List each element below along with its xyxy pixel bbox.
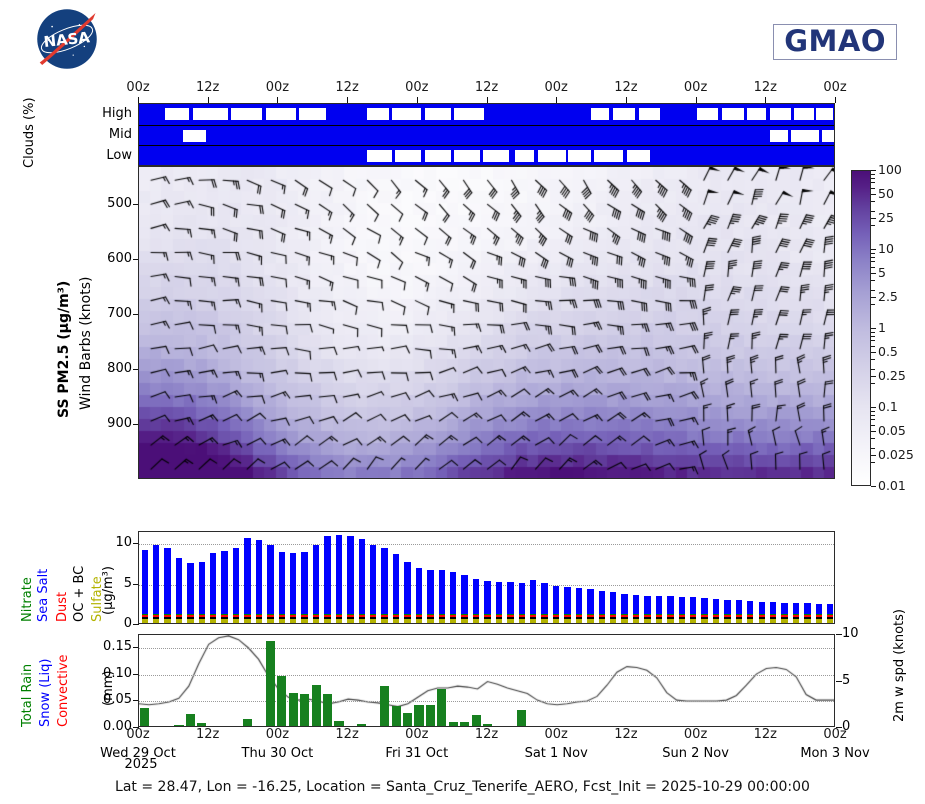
aerosol-bar xyxy=(644,596,650,623)
colorbar-minor-tick xyxy=(871,178,875,179)
aerosol-segment xyxy=(701,617,707,619)
cloud-clear-gap xyxy=(395,150,421,162)
aerosol-segment xyxy=(393,617,399,619)
aerosol-bar xyxy=(187,563,193,623)
cloud-clear-gap xyxy=(791,130,818,142)
aerosol-segment xyxy=(473,617,479,619)
aerosol-segment xyxy=(210,614,216,616)
clouds-row-mid xyxy=(139,125,834,146)
clouds-row-high xyxy=(139,104,834,125)
precip-bar xyxy=(289,693,298,726)
aerosol-segment xyxy=(690,614,696,616)
aerosol-segment xyxy=(679,617,685,619)
aerosol-segment xyxy=(724,619,730,623)
time-tick-label: 12z xyxy=(463,80,511,95)
aerosol-bar xyxy=(519,583,525,623)
aerosol-gridline xyxy=(139,544,834,545)
aerosol-segment xyxy=(221,614,227,616)
precip-bar xyxy=(517,710,526,726)
aerosol-segment xyxy=(359,614,365,616)
aerosol-bar xyxy=(816,604,822,623)
aerosol-segment xyxy=(427,619,433,623)
aerosol-bar xyxy=(713,599,719,623)
aerosol-segment xyxy=(256,617,262,619)
aerosol-bar xyxy=(221,551,227,623)
precip-legend-convective: Convective xyxy=(56,654,71,727)
aerosol-segment xyxy=(667,617,673,619)
aerosol-segment xyxy=(747,619,753,623)
aerosol-legend-nitrate: Nitrate xyxy=(20,577,35,622)
aerosol-segment-seasalt xyxy=(359,539,365,614)
precip-legend-snow-liq-: Snow (Liq) xyxy=(38,659,53,727)
cloud-clear-gap xyxy=(425,108,451,120)
aerosol-segment xyxy=(381,619,387,623)
colorbar-tick-mark xyxy=(871,455,876,456)
aerosol-bar xyxy=(199,562,205,623)
colorbar-minor-tick xyxy=(871,352,875,353)
colorbar-tick-label: 0.025 xyxy=(878,447,914,462)
aerosol-segment-seasalt xyxy=(416,568,422,614)
aerosol-segment-seasalt xyxy=(496,582,502,614)
cloud-clear-gap xyxy=(697,108,718,120)
aerosol-bar xyxy=(747,601,753,623)
cloud-row-label: Mid xyxy=(72,127,132,142)
aerosol-segment-seasalt xyxy=(530,580,536,614)
colorbar-minor-tick xyxy=(871,332,875,333)
aerosol-segment xyxy=(279,617,285,619)
aerosol-tick-label: 0 xyxy=(96,616,132,631)
cloud-clear-gap xyxy=(627,150,650,162)
aerosol-segment xyxy=(747,614,753,616)
aerosol-segment xyxy=(153,614,159,616)
aerosol-segment-seasalt xyxy=(484,581,490,614)
aerosol-segment-seasalt xyxy=(439,570,445,614)
day-label: Fri 31 Oct xyxy=(357,746,477,761)
colorbar-tick-label: 0.05 xyxy=(878,423,906,438)
aerosol-segment xyxy=(359,619,365,623)
aerosol-segment xyxy=(290,614,296,616)
aerosol-segment-seasalt xyxy=(336,535,342,614)
aerosol-segment xyxy=(553,619,559,623)
aerosol-segment-seasalt xyxy=(736,600,742,614)
aerosol-segment-seasalt xyxy=(827,604,833,615)
aerosol-segment xyxy=(416,617,422,619)
aerosol-bar xyxy=(404,562,410,623)
cloud-clear-gap xyxy=(770,108,792,120)
aerosol-segment xyxy=(816,619,822,623)
colorbar-tick-label: 25 xyxy=(878,210,894,225)
pressure-tick-label: 600 xyxy=(86,251,132,266)
precip-bar xyxy=(357,724,366,726)
aerosol-segment-seasalt xyxy=(747,601,753,614)
aerosol-segment xyxy=(667,619,673,623)
aerosol-segment xyxy=(759,619,765,623)
aerosol-segment-seasalt xyxy=(450,572,456,614)
aerosol-segment xyxy=(176,619,182,623)
aerosol-segment xyxy=(599,619,605,623)
aerosol-segment xyxy=(450,614,456,616)
aerosol-segment xyxy=(473,619,479,623)
colorbar-minor-tick xyxy=(871,304,875,305)
time-tick-label: 00z xyxy=(672,80,720,95)
aerosol-segment xyxy=(701,619,707,623)
aerosol-segment xyxy=(187,614,193,616)
aerosol-bar xyxy=(690,597,696,623)
aerosol-segment xyxy=(587,619,593,623)
colorbar-minor-tick xyxy=(871,462,875,463)
aerosol-segment xyxy=(564,614,570,616)
aerosol-segment xyxy=(439,617,445,619)
aerosol-segment xyxy=(404,614,410,616)
aerosol-segment xyxy=(541,619,547,623)
cloud-clear-gap xyxy=(425,150,451,162)
aerosol-segment xyxy=(176,614,182,616)
precip-panel xyxy=(138,634,835,727)
aerosol-bar xyxy=(793,603,799,623)
aerosol-segment xyxy=(713,619,719,623)
aerosol-bar xyxy=(164,548,170,623)
aerosol-segment xyxy=(644,617,650,619)
aerosol-segment-seasalt xyxy=(164,548,170,614)
aerosol-segment xyxy=(770,614,776,616)
aerosol-segment xyxy=(679,619,685,623)
colorbar-tick-mark xyxy=(871,486,876,487)
aerosol-segment xyxy=(256,619,262,623)
time-tick-label: 00z xyxy=(811,80,859,95)
aerosol-segment-seasalt xyxy=(759,602,765,614)
aerosol-segment xyxy=(827,614,833,616)
aerosol-segment xyxy=(244,617,250,619)
aerosol-bar xyxy=(301,552,307,623)
precip-gridline xyxy=(139,648,834,649)
aerosol-segment-seasalt xyxy=(599,591,605,614)
aerosol-segment xyxy=(439,614,445,616)
gmao-logo-text: GMAO xyxy=(784,24,886,58)
colorbar-minor-tick xyxy=(871,201,875,202)
colorbar-minor-tick xyxy=(871,340,875,341)
aerosol-segment-seasalt xyxy=(724,600,730,615)
cloud-clear-gap xyxy=(454,150,480,162)
colorbar-tick-label: 0.01 xyxy=(878,478,906,493)
aerosol-segment xyxy=(644,614,650,616)
aerosol-segment xyxy=(701,614,707,616)
aerosol-segment xyxy=(221,617,227,619)
aerosol-segment-seasalt xyxy=(816,604,822,615)
colorbar-tick-mark xyxy=(871,376,876,377)
colorbar-tick-label: 1 xyxy=(878,320,886,335)
aerosol-segment xyxy=(427,617,433,619)
colorbar-minor-tick xyxy=(871,174,875,175)
precip-tick-label: 0.15 xyxy=(78,639,132,654)
aerosol-segment xyxy=(713,614,719,616)
cloud-clear-gap xyxy=(231,108,262,120)
aerosol-segment xyxy=(553,614,559,616)
aerosol-segment xyxy=(244,614,250,616)
aerosol-segment-seasalt xyxy=(187,563,193,614)
aerosol-bar xyxy=(313,545,319,623)
aerosol-segment-seasalt xyxy=(267,545,273,614)
aerosol-segment-seasalt xyxy=(176,558,182,615)
aerosol-segment xyxy=(804,614,810,616)
aerosol-segment xyxy=(496,617,502,619)
aerosol-segment-seasalt xyxy=(142,550,148,614)
aerosol-bar xyxy=(256,540,262,623)
aerosol-bar xyxy=(279,552,285,623)
aerosol-segment xyxy=(633,617,639,619)
aerosol-segment-seasalt xyxy=(244,538,250,614)
aerosol-segment-seasalt xyxy=(313,545,319,614)
aerosol-segment xyxy=(233,619,239,623)
precip-tick-label: 0.05 xyxy=(78,692,132,707)
aerosol-bar xyxy=(553,586,559,623)
aerosol-segment xyxy=(244,619,250,623)
aerosol-segment-seasalt xyxy=(701,598,707,614)
aerosol-bar xyxy=(770,602,776,623)
pressure-tick-label: 500 xyxy=(86,196,132,211)
aerosol-segment-seasalt xyxy=(667,596,673,614)
colorbar-tick-label: 2.5 xyxy=(878,289,898,304)
nasa-logo: NASA xyxy=(36,8,98,70)
aerosol-segment xyxy=(496,619,502,623)
cloud-clear-gap xyxy=(392,108,421,120)
aerosol-segment xyxy=(644,619,650,623)
precip-bar xyxy=(403,713,412,726)
aerosol-segment-seasalt xyxy=(587,589,593,614)
aerosol-bar xyxy=(541,583,547,623)
aerosol-segment xyxy=(633,619,639,623)
colorbar-tick-mark xyxy=(871,218,876,219)
aerosol-segment-seasalt xyxy=(679,597,685,614)
aerosol-segment xyxy=(313,619,319,623)
aerosol-segment xyxy=(336,617,342,619)
aerosol-segment xyxy=(324,617,330,619)
aerosol-bar xyxy=(507,582,513,623)
aerosol-bar xyxy=(347,536,353,623)
aerosol-segment xyxy=(221,619,227,623)
aerosol-segment xyxy=(461,617,467,619)
main-ylabel-pm25: SS PM2.5 (μg/m³) xyxy=(56,281,72,418)
aerosol-segment xyxy=(656,614,662,616)
aerosol-segment-seasalt xyxy=(793,603,799,614)
aerosol-segment xyxy=(781,619,787,623)
aerosol-segment xyxy=(679,614,685,616)
aerosol-segment-seasalt xyxy=(256,540,262,614)
colorbar-minor-tick xyxy=(871,369,875,370)
precip-bar xyxy=(472,715,481,726)
aerosol-segment xyxy=(164,614,170,616)
day-label: Mon 3 Nov xyxy=(775,746,895,761)
aerosol-segment xyxy=(233,617,239,619)
aerosol-segment-seasalt xyxy=(290,553,296,614)
aerosol-segment xyxy=(690,617,696,619)
aerosol-segment xyxy=(233,614,239,616)
aerosol-segment xyxy=(633,614,639,616)
pressure-tick-label: 700 xyxy=(86,306,132,321)
aerosol-segment xyxy=(530,617,536,619)
precip-bar xyxy=(392,706,401,726)
aerosol-tick-label: 5 xyxy=(96,576,132,591)
aerosol-segment xyxy=(176,617,182,619)
aerosol-bar xyxy=(530,580,536,623)
aerosol-segment xyxy=(187,619,193,623)
aerosol-segment xyxy=(519,614,525,616)
aerosol-legend-dust: Dust xyxy=(55,592,70,622)
aerosol-segment xyxy=(324,614,330,616)
aerosol-panel xyxy=(138,531,835,624)
cloud-clear-gap xyxy=(266,108,296,120)
aerosol-bar xyxy=(667,596,673,623)
aerosol-tick-label: 10 xyxy=(96,535,132,550)
aerosol-segment xyxy=(541,617,547,619)
aerosol-segment-seasalt xyxy=(633,595,639,614)
aerosol-segment xyxy=(507,614,513,616)
aerosol-segment xyxy=(610,614,616,616)
aerosol-segment xyxy=(199,614,205,616)
aerosol-segment xyxy=(576,619,582,623)
aerosol-segment-seasalt xyxy=(381,548,387,614)
aerosol-segment-seasalt xyxy=(690,597,696,614)
aerosol-segment xyxy=(199,619,205,623)
aerosol-segment xyxy=(301,619,307,623)
aerosol-segment xyxy=(416,619,422,623)
aerosol-segment xyxy=(553,617,559,619)
aerosol-segment xyxy=(496,614,502,616)
aerosol-segment xyxy=(313,617,319,619)
precip-bar xyxy=(449,722,458,726)
aerosol-segment xyxy=(359,617,365,619)
aerosol-bar xyxy=(359,539,365,623)
aerosol-segment-seasalt xyxy=(804,603,810,614)
aerosol-segment xyxy=(484,619,490,623)
time-tick-label: 12z xyxy=(741,80,789,95)
aerosol-tick-mark xyxy=(133,624,139,625)
aerosol-segment xyxy=(381,614,387,616)
aerosol-legend-sea-salt: Sea Salt xyxy=(36,569,51,622)
pressure-tick-label: 900 xyxy=(86,416,132,431)
aerosol-segment xyxy=(404,619,410,623)
aerosol-segment xyxy=(461,619,467,623)
aerosol-segment xyxy=(747,617,753,619)
aerosol-bar xyxy=(416,568,422,623)
aerosol-segment-seasalt xyxy=(153,545,159,614)
aerosol-segment-seasalt xyxy=(519,583,525,615)
aerosol-bar xyxy=(450,572,456,623)
aerosol-bar xyxy=(381,548,387,623)
time-tick-label: 12z xyxy=(323,80,371,95)
precip-bar xyxy=(414,705,423,726)
colorbar-minor-tick xyxy=(871,182,875,183)
aerosol-segment xyxy=(781,617,787,619)
cloud-clear-gap xyxy=(367,150,392,162)
cloud-clear-gap xyxy=(538,150,566,162)
aerosol-bar xyxy=(496,582,502,623)
colorbar-minor-tick xyxy=(871,261,875,262)
aerosol-segment xyxy=(599,617,605,619)
cloud-clear-gap xyxy=(183,130,206,142)
aerosol-segment xyxy=(781,614,787,616)
aerosol-segment xyxy=(461,614,467,616)
cloud-clear-gap xyxy=(193,108,228,120)
aerosol-segment xyxy=(187,617,193,619)
cloud-clear-gap xyxy=(722,108,744,120)
colorbar-tick-label: 0.25 xyxy=(878,368,906,383)
cloud-clear-gap xyxy=(822,130,834,142)
aerosol-bar xyxy=(473,579,479,623)
main-ylabel-windbarbs: Wind Barbs (knots) xyxy=(78,277,94,410)
aerosol-segment-seasalt xyxy=(770,602,776,614)
aerosol-segment xyxy=(164,619,170,623)
precip-bar xyxy=(140,708,149,726)
clouds-panel xyxy=(138,103,835,166)
cloud-clear-gap xyxy=(367,108,389,120)
aerosol-segment xyxy=(279,614,285,616)
colorbar-minor-tick xyxy=(871,188,875,189)
aerosol-segment xyxy=(370,619,376,623)
colorbar-tick-mark xyxy=(871,407,876,408)
day-label: Sat 1 Nov xyxy=(496,746,616,761)
pressure-tick-label: 800 xyxy=(86,361,132,376)
aerosol-segment xyxy=(507,619,513,623)
gmao-logo: GMAO xyxy=(773,24,897,60)
colorbar-tick-mark xyxy=(871,297,876,298)
time-tick-label: 00z xyxy=(532,80,580,95)
day-label: Thu 30 Oct xyxy=(217,746,337,761)
aerosol-bar xyxy=(153,545,159,623)
precip-bar xyxy=(174,725,183,726)
aerosol-segment xyxy=(804,619,810,623)
aerosol-segment xyxy=(587,614,593,616)
colorbar-tick-label: 0.5 xyxy=(878,344,898,359)
aerosol-segment-seasalt xyxy=(233,548,239,614)
aerosol-segment xyxy=(576,617,582,619)
aerosol-segment xyxy=(336,619,342,623)
colorbar-tick-mark xyxy=(871,170,876,171)
precip-bar xyxy=(426,705,435,726)
aerosol-segment xyxy=(256,614,262,616)
aerosol-segment-seasalt xyxy=(781,603,787,614)
aerosol-segment xyxy=(656,619,662,623)
aerosol-segment xyxy=(793,617,799,619)
clouds-panel-title: Clouds (%) xyxy=(22,97,37,168)
time-tick-mark xyxy=(835,97,836,103)
cloud-clear-gap xyxy=(591,108,610,120)
aerosol-segment xyxy=(370,617,376,619)
colorbar-tick-mark xyxy=(871,328,876,329)
main-pm25-panel xyxy=(138,166,835,479)
aerosol-segment xyxy=(393,614,399,616)
colorbar-minor-tick xyxy=(871,359,875,360)
aerosol-segment-seasalt xyxy=(279,552,285,614)
aerosol-bar xyxy=(804,603,810,623)
aerosol-bar xyxy=(576,588,582,623)
aerosol-segment xyxy=(484,614,490,616)
aerosol-segment xyxy=(381,617,387,619)
aerosol-bar xyxy=(210,553,216,623)
colorbar-tick-label: 5 xyxy=(878,265,886,280)
aerosol-bar xyxy=(393,554,399,623)
aerosol-segment xyxy=(210,619,216,623)
precip-bar xyxy=(323,694,332,726)
aerosol-segment-seasalt xyxy=(564,587,570,614)
aerosol-segment-seasalt xyxy=(370,545,376,615)
colorbar-minor-tick xyxy=(871,425,875,426)
aerosol-bar xyxy=(701,598,707,623)
aerosol-bar xyxy=(827,604,833,623)
precip-right-ylabel: 2m w spd (knots) xyxy=(892,609,907,722)
colorbar-minor-tick xyxy=(871,225,875,226)
aerosol-segment-seasalt xyxy=(610,592,616,614)
aerosol-segment xyxy=(759,614,765,616)
